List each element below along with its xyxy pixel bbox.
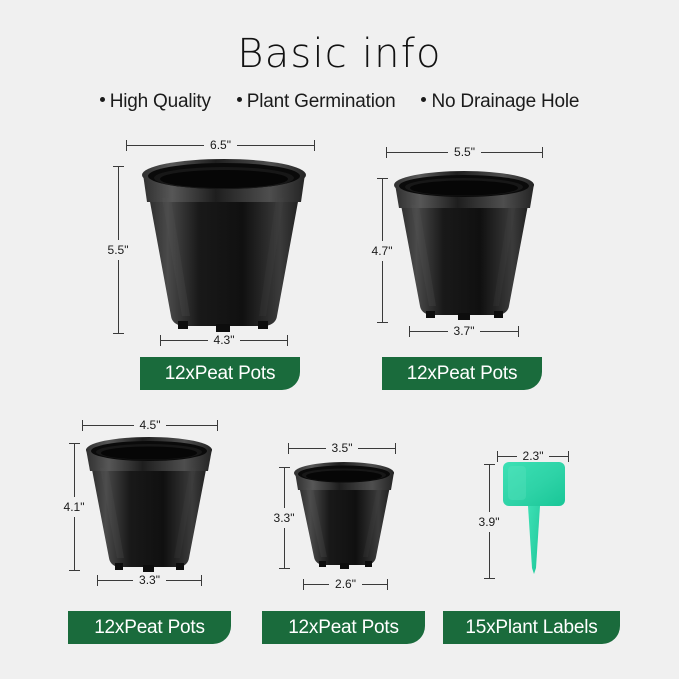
badge-peat-pot-4-5: 12xPeat Pots — [68, 611, 231, 644]
dimension-value: 2.6" — [329, 578, 362, 590]
dimension-cap — [484, 578, 495, 579]
badge-label: 12xPeat Pots — [407, 363, 518, 385]
dimension-value: 3.5" — [326, 442, 359, 454]
dimension-value: 3.3" — [133, 574, 166, 586]
dimension-rule — [489, 465, 490, 512]
dimension-rule — [481, 152, 542, 153]
dimension-value: 4.5" — [134, 419, 167, 431]
dimension-rule — [166, 580, 201, 581]
dimension-rule — [74, 444, 75, 497]
dimension-bottom-diameter: 2.6" — [303, 577, 388, 591]
feature-label: No Drainage Hole — [431, 91, 579, 112]
feature-item-high-quality: High Quality — [100, 91, 211, 113]
dimension-height: 5.5" — [102, 166, 134, 334]
dimension-value: 6.5" — [204, 139, 237, 151]
feature-item-plant-germination: Plant Germination — [237, 91, 396, 113]
dimension-bottom-diameter: 3.3" — [97, 573, 202, 587]
dimension-value: 4.7" — [372, 241, 393, 261]
dimension-rule — [284, 528, 285, 568]
badge-peat-pot-6-5: 12xPeat Pots — [140, 357, 300, 390]
dimension-rule — [289, 448, 326, 449]
dimension-rule — [480, 331, 518, 332]
dimension-cap — [377, 322, 388, 323]
feature-label: Plant Germination — [247, 91, 396, 112]
dimension-rule — [358, 448, 395, 449]
pot-illustration — [138, 158, 310, 338]
dimension-top-diameter: 4.5" — [82, 418, 218, 432]
dimension-rule — [74, 517, 75, 570]
bullet-icon — [421, 97, 426, 102]
dimension-rule — [237, 145, 314, 146]
bullet-icon — [237, 97, 242, 102]
dimension-cap — [69, 570, 80, 571]
feature-item-no-drainage-hole: No Drainage Hole — [421, 91, 579, 113]
dimension-cap — [395, 443, 396, 454]
dimension-cap — [387, 579, 388, 590]
dimension-rule — [549, 456, 568, 457]
feature-label: High Quality — [110, 91, 211, 112]
dimension-rule — [382, 179, 383, 241]
dimension-rule — [166, 425, 217, 426]
infographic-header: Basic info High Quality Plant Germinatio… — [0, 0, 679, 113]
dimension-rule — [284, 468, 285, 508]
dimension-top-diameter: 6.5" — [126, 138, 315, 152]
dimension-cap — [542, 147, 543, 158]
bullet-icon — [100, 97, 105, 102]
dimension-cap — [217, 420, 218, 431]
badge-label: 12xPeat Pots — [288, 617, 399, 639]
plant-label-illustration — [495, 460, 573, 580]
pot-illustration — [83, 436, 215, 576]
badge-label: 12xPeat Pots — [94, 617, 205, 639]
dimension-cap — [287, 335, 288, 346]
dimension-top-diameter: 3.5" — [288, 441, 396, 455]
badge-plant-labels: 15xPlant Labels — [443, 611, 620, 644]
dimension-rule — [240, 340, 287, 341]
dimension-rule — [382, 261, 383, 323]
dimension-top-diameter: 5.5" — [386, 145, 543, 159]
dimension-value: 3.7" — [448, 325, 481, 337]
dimension-rule — [387, 152, 448, 153]
dimension-value: 5.5" — [448, 146, 481, 158]
dimension-rule — [362, 584, 387, 585]
dimension-cap — [518, 326, 519, 337]
dimension-value: 5.5" — [108, 240, 129, 260]
badge-peat-pot-3-5: 12xPeat Pots — [262, 611, 425, 644]
pot-illustration — [292, 461, 397, 573]
dimension-rule — [98, 580, 133, 581]
pot-illustration — [391, 170, 537, 326]
dimension-cap — [113, 333, 124, 334]
dimension-rule — [304, 584, 329, 585]
dimension-cap — [279, 568, 290, 569]
dimension-bottom-diameter: 3.7" — [409, 324, 519, 338]
badge-label: 12xPeat Pots — [165, 363, 276, 385]
feature-list: High Quality Plant Germination No Draina… — [0, 91, 679, 113]
dimension-rule — [410, 331, 448, 332]
dimension-rule — [498, 456, 517, 457]
dimension-value: 4.3" — [208, 334, 241, 346]
dimension-rule — [489, 532, 490, 579]
dimension-cap — [201, 575, 202, 586]
dimension-cap — [314, 140, 315, 151]
page-title: Basic info — [0, 0, 679, 74]
dimension-rule — [83, 425, 134, 426]
dimension-rule — [161, 340, 208, 341]
dimension-value: 4.1" — [64, 497, 85, 517]
dimension-rule — [118, 260, 119, 333]
dimension-rule — [127, 145, 204, 146]
badge-peat-pot-5-5: 12xPeat Pots — [382, 357, 542, 390]
badge-label: 15xPlant Labels — [465, 617, 597, 639]
dimension-rule — [118, 167, 119, 240]
dimension-bottom-diameter: 4.3" — [160, 333, 288, 347]
